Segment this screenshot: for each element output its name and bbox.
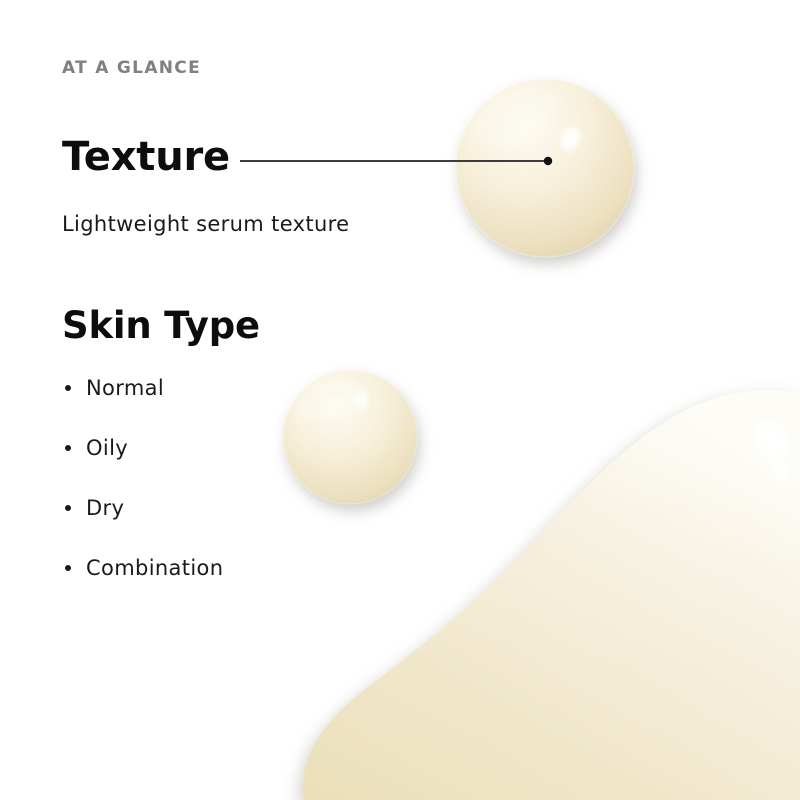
list-item-label: Oily: [86, 436, 128, 460]
bullet-icon: [65, 385, 71, 391]
texture-heading: Texture: [62, 136, 482, 179]
bullet-icon: [65, 565, 71, 571]
at-a-glance-panel: AT A GLANCE Texture Lightweight serum te…: [0, 0, 800, 800]
texture-description: Lightweight serum texture: [62, 179, 482, 237]
skin-type-list: Normal Oily Dry Combination: [62, 346, 482, 610]
list-item: Dry: [62, 490, 482, 550]
list-item-label: Normal: [86, 376, 164, 400]
skin-type-section: Skin Type Normal Oily Dry Combination: [62, 306, 482, 610]
list-item: Combination: [62, 550, 482, 610]
bullet-icon: [65, 445, 71, 451]
eyebrow-label: AT A GLANCE: [62, 60, 201, 77]
list-item: Normal: [62, 370, 482, 430]
list-item: Oily: [62, 430, 482, 490]
content-layer: AT A GLANCE Texture Lightweight serum te…: [0, 0, 800, 800]
list-item-label: Combination: [86, 556, 223, 580]
texture-section: Texture Lightweight serum texture: [62, 136, 482, 237]
list-item-label: Dry: [86, 496, 124, 520]
skin-type-heading: Skin Type: [62, 306, 482, 346]
bullet-icon: [65, 505, 71, 511]
